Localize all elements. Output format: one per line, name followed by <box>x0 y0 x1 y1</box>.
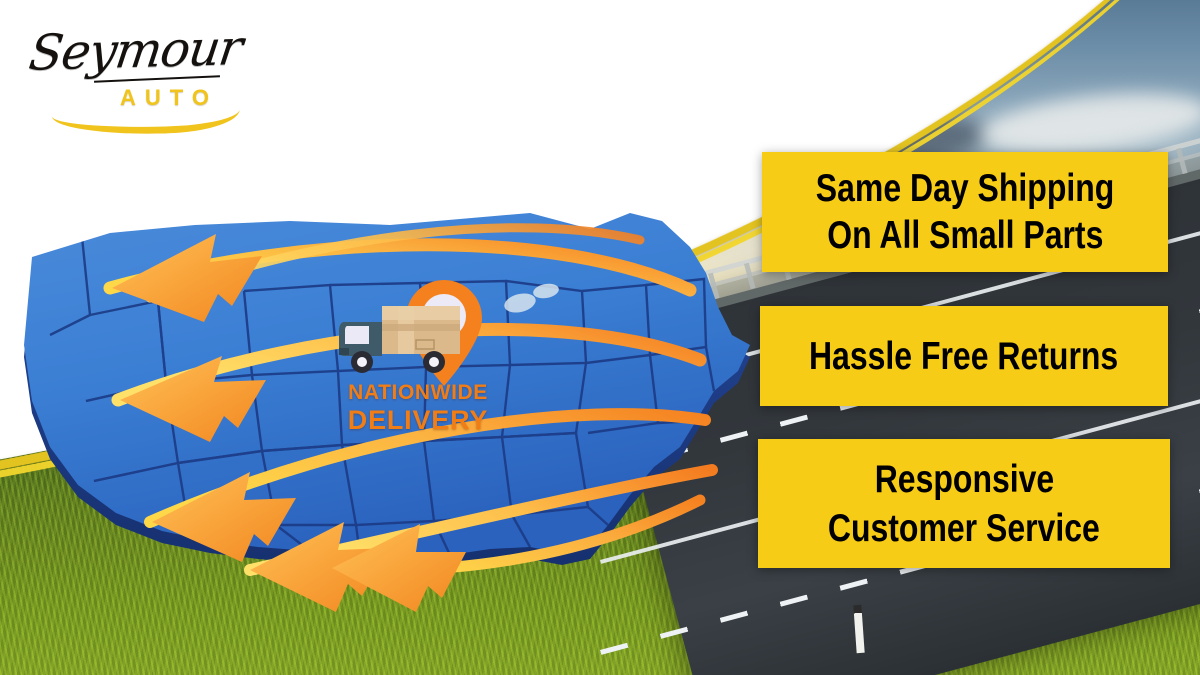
delivery-truck-icon <box>338 300 468 378</box>
panel-line: Customer Service <box>828 504 1100 553</box>
marketing-banner: Seymour AUTO <box>0 0 1200 675</box>
feature-panel-responsive-customer-service[interactable]: Responsive Customer Service <box>758 439 1170 568</box>
badge-line-2: DELIVERY <box>328 405 508 436</box>
badge-text: NATIONWIDE DELIVERY <box>328 380 508 436</box>
feature-panel-hassle-free-returns[interactable]: Hassle Free Returns <box>760 306 1168 406</box>
panel-line: Hassle Free Returns <box>809 333 1118 380</box>
seymour-auto-logo[interactable]: Seymour AUTO <box>28 22 248 128</box>
panel-line: On All Small Parts <box>827 212 1103 259</box>
feature-panel-same-day-shipping[interactable]: Same Day Shipping On All Small Parts <box>762 152 1168 272</box>
panel-line: Same Day Shipping <box>816 165 1115 212</box>
logo-script-text: Seymour <box>26 19 245 81</box>
nationwide-delivery-badge: NATIONWIDE DELIVERY <box>330 278 510 450</box>
panel-line: Responsive <box>874 455 1054 504</box>
badge-line-1: NATIONWIDE <box>328 380 508 405</box>
